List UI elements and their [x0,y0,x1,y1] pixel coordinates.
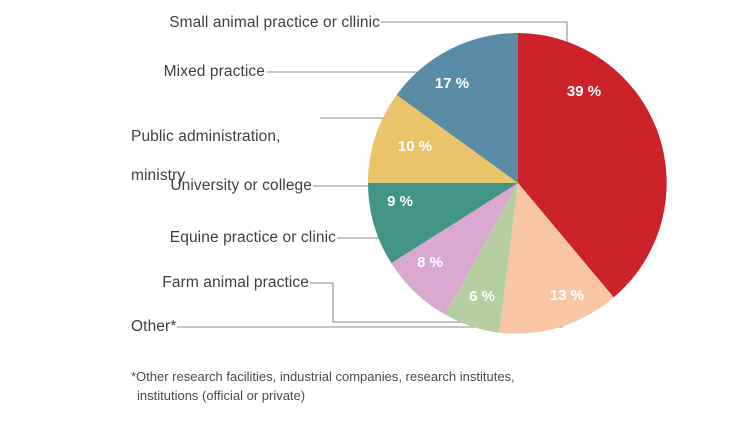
footnote-line1: *Other research facilities, industrial c… [131,369,515,384]
legend-label-public-admin[interactable]: Public administration, ministry [131,108,331,186]
chart-container: 39 % 13 % 6 % 8 % 9 % 10 % 17 % Small an… [0,0,750,422]
slice-value-farm-animal: 6 % [469,288,495,305]
slice-value-university: 9 % [387,193,413,210]
legend-label-small-animal[interactable]: Small animal practice or cllinic [40,13,380,32]
legend-label-university[interactable]: University or college [40,176,312,195]
slice-value-other: 13 % [550,287,584,304]
footnote-line2: institutions (official or private) [131,387,651,406]
slice-value-small-animal: 39 % [567,83,601,100]
slice-value-equine: 8 % [417,254,443,271]
slice-value-public-admin: 10 % [398,138,432,155]
legend-label-equine[interactable]: Equine practice or clinic [40,228,336,247]
legend-label-other[interactable]: Other* [131,317,311,336]
footnote: *Other research facilities, industrial c… [131,368,651,406]
slice-value-mixed-practice: 17 % [435,75,469,92]
legend-label-farm-animal[interactable]: Farm animal practice [40,273,309,292]
legend-label-public-admin-line1: Public administration, [131,128,281,145]
legend-label-mixed-practice[interactable]: Mixed practice [40,62,265,81]
